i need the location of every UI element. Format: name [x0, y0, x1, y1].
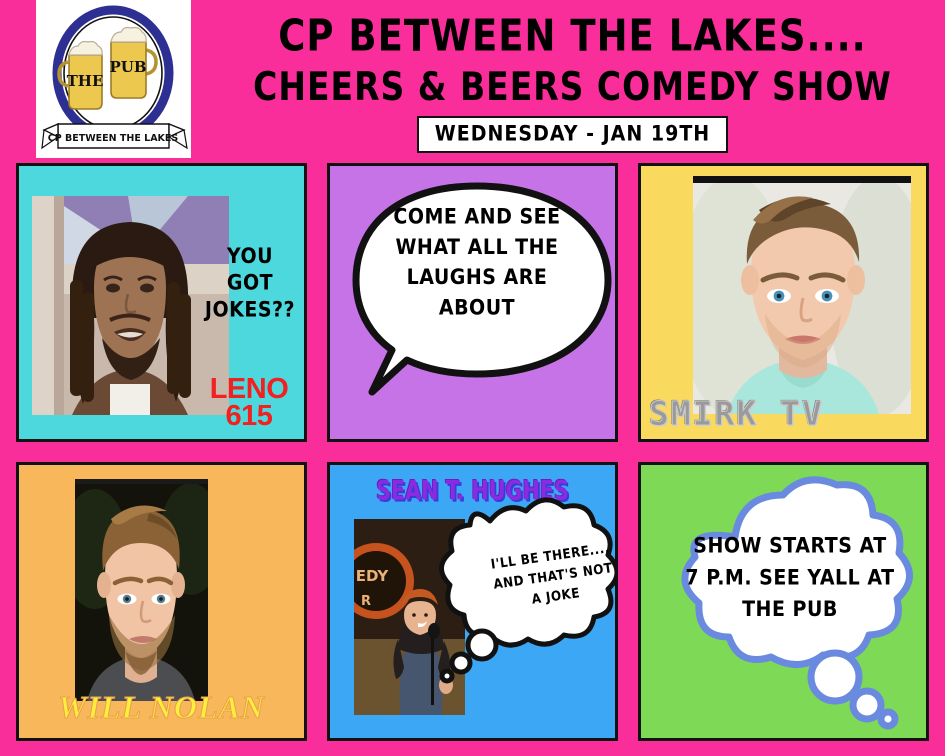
photo-smirk-artwork [693, 176, 911, 414]
pub-logo-artwork: THE PUB CP BETWEEN THE LAKES [36, 0, 191, 158]
comedy-show-poster: THE PUB CP BETWEEN THE LAKES [0, 0, 945, 756]
speech-bubble-text: COME AND SEE WHAT ALL THE LAUGHS ARE ABO… [378, 202, 576, 323]
poster-title-block: CP BETWEEN THE LAKES.... CHEERS & BEERS … [200, 6, 945, 153]
performer-name-leno-line2: 615 [196, 403, 302, 431]
performer-name-leno: LENO 615 [196, 376, 302, 431]
panel-will-nolan[interactable]: WILL NOLAN [16, 462, 307, 741]
performer-photo-smirk-tv [693, 176, 911, 414]
performer-photo-will-nolan [75, 479, 208, 701]
panel-smirk-tv[interactable]: SMIRK TV [638, 163, 929, 442]
photo-nolan-artwork [75, 479, 208, 701]
panel-sean-t-hughes[interactable]: SEAN T. HUGHES EDY R [327, 462, 618, 741]
pub-logo: THE PUB CP BETWEEN THE LAKES [36, 0, 191, 158]
mug-left-label: THE [67, 72, 104, 90]
page-title: CP BETWEEN THE LAKES.... [200, 14, 945, 58]
panel-speech-bubble[interactable]: COME AND SEE WHAT ALL THE LAUGHS ARE ABO… [327, 163, 618, 442]
panel-show-info[interactable]: SHOW STARTS AT 7 P.M. SEE YALL AT THE PU… [638, 462, 929, 741]
page-subtitle: CHEERS & BEERS COMEDY SHOW [200, 67, 945, 106]
show-info-text: SHOW STARTS AT 7 P.M. SEE YALL AT THE PU… [683, 530, 897, 626]
event-date-badge: WEDNESDAY - JAN 19TH [417, 116, 728, 153]
logo-banner-text: CP BETWEEN THE LAKES [48, 133, 179, 144]
photo-top-bar [75, 479, 208, 484]
beer-mug-right: PUB [109, 28, 156, 99]
performer-name-will-nolan: WILL NOLAN [19, 689, 304, 726]
logo-banner: CP BETWEEN THE LAKES [42, 124, 187, 148]
performer-name-smirk-tv: SMIRK TV [649, 394, 824, 433]
performer-grid: YOU GOT JOKES?? LENO 615 COME AND SEE WH… [16, 163, 929, 741]
photo-top-bar [693, 176, 911, 183]
mug-right-label: PUB [109, 58, 146, 76]
panel-leno-caption: YOU GOT JOKES?? [202, 244, 298, 324]
poster-header: THE PUB CP BETWEEN THE LAKES [0, 0, 945, 158]
performer-name-leno-line1: LENO [196, 376, 302, 404]
panel-leno-615[interactable]: YOU GOT JOKES?? LENO 615 [16, 163, 307, 442]
event-date-text: WEDNESDAY - JAN 19TH [435, 122, 710, 146]
